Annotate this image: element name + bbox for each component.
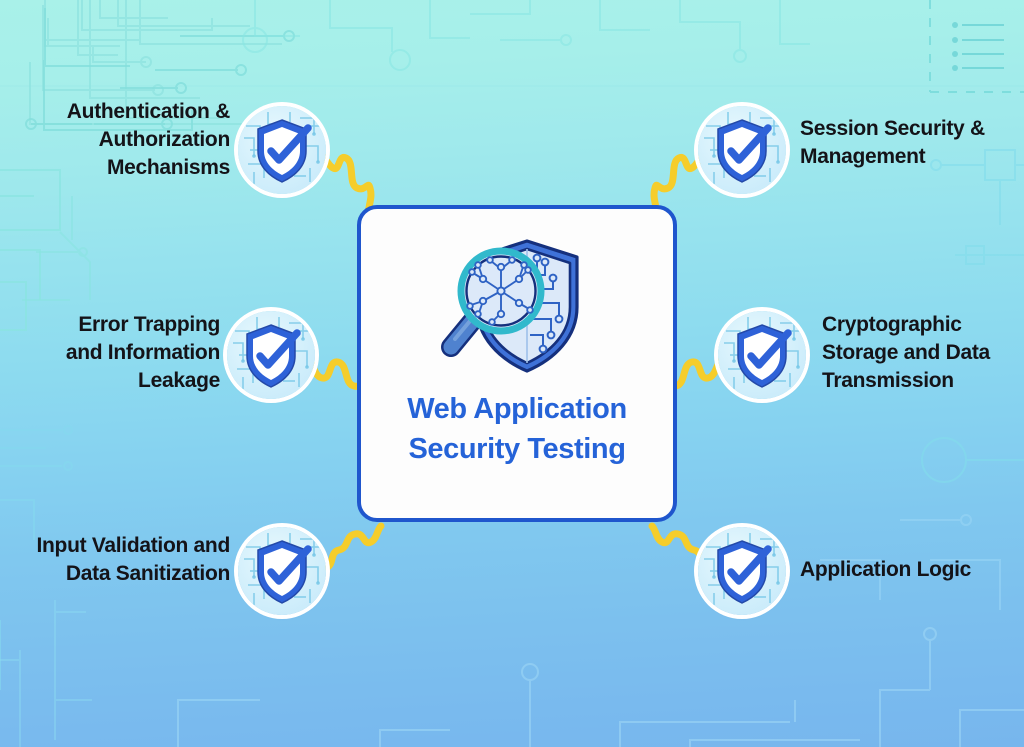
- center-title-line: Web Application: [407, 389, 627, 429]
- node-label-application-logic: Application Logic: [800, 556, 1024, 584]
- node-label-line: Authentication &: [20, 98, 230, 126]
- center-card[interactable]: Web Application Security Testing: [357, 205, 677, 522]
- node-label-cryptographic-storage-data-transmission: Cryptographic Storage and Data Transmiss…: [822, 311, 1024, 395]
- node-label-line: Data Sanitization: [0, 560, 230, 588]
- node-label-input-validation-data-sanitization: Input Validation and Data Sanitization: [0, 532, 230, 588]
- shield-check-icon: [227, 311, 315, 399]
- center-title: Web Application Security Testing: [397, 389, 637, 469]
- shield-check-icon: [698, 106, 786, 194]
- shield-check-icon: [238, 106, 326, 194]
- node-label-authentication-authorization: Authentication & Authorization Mechanism…: [20, 98, 230, 182]
- node-label-session-security-management: Session Security & Management: [800, 115, 1024, 171]
- node-badge-session-security-management[interactable]: [698, 106, 786, 194]
- node-label-line: Storage and Data: [822, 339, 1024, 367]
- node-label-error-trapping-information-leakage: Error Trapping and Information Leakage: [20, 311, 220, 395]
- node-label-line: Leakage: [20, 367, 220, 395]
- node-label-line: Input Validation and: [0, 532, 230, 560]
- node-label-line: Transmission: [822, 367, 1024, 395]
- node-label-line: Management: [800, 143, 1024, 171]
- node-label-line: and Information: [20, 339, 220, 367]
- node-badge-authentication-authorization[interactable]: [238, 106, 326, 194]
- node-label-line: Authorization: [20, 126, 230, 154]
- shield-check-icon: [718, 311, 806, 399]
- node-badge-error-trapping-information-leakage[interactable]: [227, 311, 315, 399]
- node-label-line: Session Security &: [800, 115, 1024, 143]
- node-label-line: Cryptographic: [822, 311, 1024, 339]
- node-badge-input-validation-data-sanitization[interactable]: [238, 527, 326, 615]
- shield-check-icon: [238, 527, 326, 615]
- node-label-line: Application Logic: [800, 556, 1024, 584]
- magnifier-over-shield-icon: [427, 235, 607, 375]
- node-label-line: Mechanisms: [20, 154, 230, 182]
- node-label-line: Error Trapping: [20, 311, 220, 339]
- shield-check-icon: [698, 527, 786, 615]
- center-title-line: Security Testing: [407, 429, 627, 469]
- node-badge-cryptographic-storage-data-transmission[interactable]: [718, 311, 806, 399]
- infographic-canvas: Authentication & Authorization Mechanism…: [0, 0, 1024, 747]
- node-badge-application-logic[interactable]: [698, 527, 786, 615]
